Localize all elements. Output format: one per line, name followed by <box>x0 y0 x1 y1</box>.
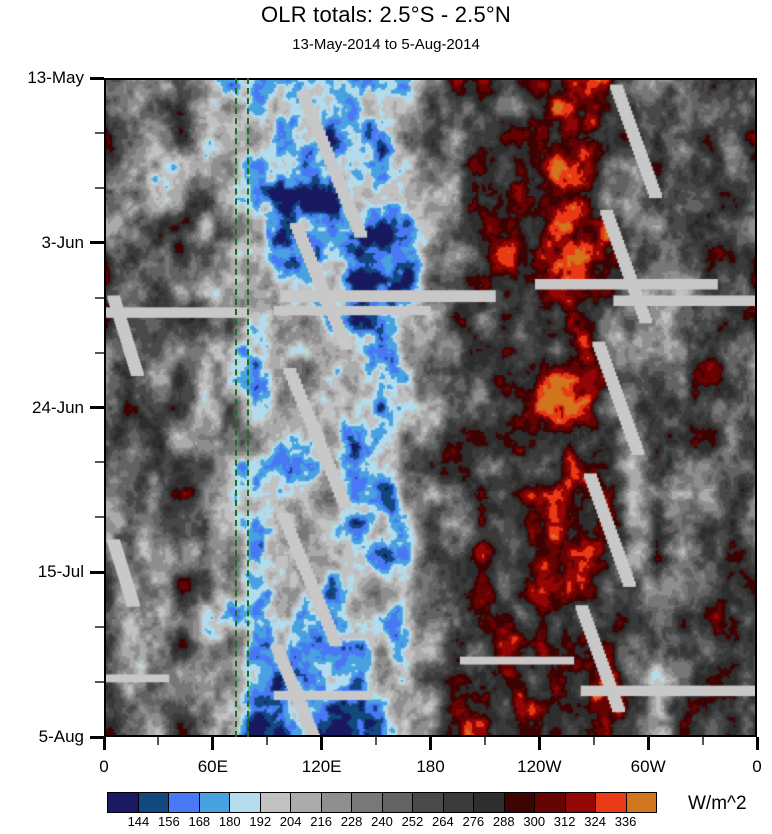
colorbar-segment <box>261 793 292 812</box>
x-axis-major-tick <box>320 737 323 750</box>
x-axis-label: 60E <box>168 757 258 777</box>
x-axis-major-tick <box>647 737 650 750</box>
y-axis-major-tick <box>90 571 104 574</box>
y-axis-minor-tick <box>95 461 104 463</box>
x-axis-major-tick <box>429 737 432 750</box>
colorbar <box>107 792 657 813</box>
colorbar-segment <box>413 793 444 812</box>
colorbar-segment <box>291 793 322 812</box>
y-axis-label: 13-May <box>0 68 84 88</box>
colorbar-segment <box>627 793 657 812</box>
x-axis-label: 0 <box>59 757 149 777</box>
colorbar-segment <box>169 793 200 812</box>
y-axis-label: 24-Jun <box>0 398 84 418</box>
y-axis-major-tick <box>90 241 104 244</box>
x-axis-label: 180 <box>386 757 476 777</box>
x-axis-minor-tick <box>593 737 595 745</box>
x-axis-label: 120W <box>494 757 584 777</box>
colorbar-segment <box>474 793 505 812</box>
y-axis-major-tick <box>90 406 104 409</box>
y-axis-label: 15-Jul <box>0 562 84 582</box>
colorbar-segment <box>322 793 353 812</box>
y-axis-minor-tick <box>95 626 104 628</box>
x-axis-minor-tick <box>484 737 486 745</box>
x-axis-minor-tick <box>157 737 159 745</box>
colorbar-segment <box>505 793 536 812</box>
y-axis-major-tick <box>90 77 104 80</box>
x-axis-major-tick <box>538 737 541 750</box>
x-axis-minor-tick <box>375 737 377 745</box>
x-axis-label: 120E <box>277 757 367 777</box>
colorbar-units-label: W/m^2 <box>688 793 747 815</box>
y-axis-major-tick <box>90 736 104 739</box>
colorbar-tick-label: 336 <box>606 814 646 829</box>
colorbar-segment <box>200 793 231 812</box>
green-dashed-line-east <box>247 78 249 737</box>
y-axis-minor-tick <box>95 516 104 518</box>
hovmoller-plot-area <box>104 78 757 737</box>
colorbar-segment <box>444 793 475 812</box>
x-axis-minor-tick <box>702 737 704 745</box>
y-axis-minor-tick <box>95 187 104 189</box>
y-axis-minor-tick <box>95 132 104 134</box>
olr-heatmap-field <box>104 78 757 737</box>
colorbar-segment <box>108 793 139 812</box>
colorbar-segment <box>352 793 383 812</box>
colorbar-segment <box>230 793 261 812</box>
y-axis-minor-tick <box>95 297 104 299</box>
x-axis-major-tick <box>756 737 759 750</box>
x-axis-label: 0 <box>712 757 772 777</box>
chart-title: OLR totals: 2.5°S - 2.5°N <box>0 2 772 28</box>
green-dashed-line-west <box>235 78 237 737</box>
x-axis-major-tick <box>103 737 106 750</box>
x-axis-label: 60W <box>603 757 693 777</box>
chart-subtitle: 13-May-2014 to 5-Aug-2014 <box>0 36 772 53</box>
y-axis-minor-tick <box>95 352 104 354</box>
chart-canvas-root: OLR totals: 2.5°S - 2.5°N 13-May-2014 to… <box>0 0 772 834</box>
colorbar-segment <box>383 793 414 812</box>
y-axis-minor-tick <box>95 681 104 683</box>
colorbar-segment <box>535 793 566 812</box>
y-axis-label: 5-Aug <box>0 727 84 747</box>
x-axis-minor-tick <box>266 737 268 745</box>
y-axis-label: 3-Jun <box>0 233 84 253</box>
x-axis-major-tick <box>211 737 214 750</box>
colorbar-segment <box>566 793 597 812</box>
colorbar-segment <box>596 793 627 812</box>
colorbar-segment <box>139 793 170 812</box>
